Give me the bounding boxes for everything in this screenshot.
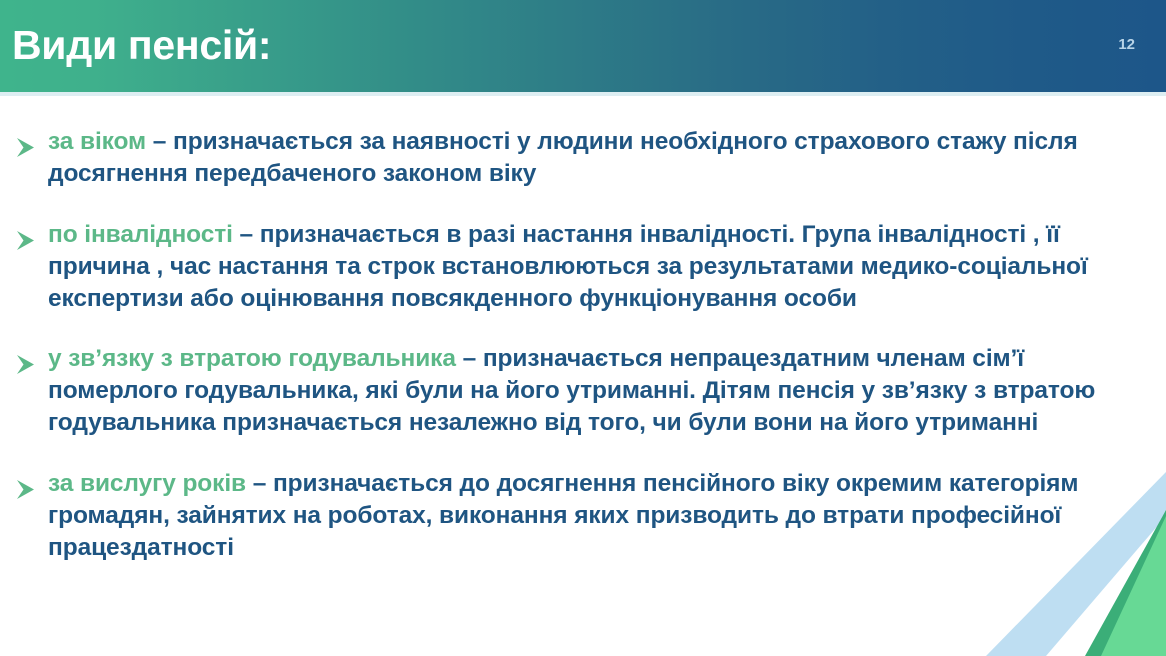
list-item-separator: – (146, 128, 173, 155)
list-item-term: за віком (48, 128, 146, 155)
list-item-body: призначається за наявності у людини необ… (48, 128, 1078, 187)
arrow-right-icon (14, 226, 40, 256)
list-item-term: за вислугу років (48, 470, 246, 497)
header-underline (0, 92, 1166, 96)
list-item-text: за вислугу років – призначається до дося… (48, 468, 1156, 564)
list-item-separator: – (246, 470, 273, 497)
list-item: у зв’язку з втратою годувальника – призн… (0, 343, 1166, 439)
bullet-list: за віком – призначається за наявності у … (0, 126, 1166, 564)
list-item-separator: – (233, 221, 260, 248)
list-item: по інвалідності – призначається в разі н… (0, 219, 1166, 315)
list-item-separator: – (456, 345, 483, 372)
list-item-text: по інвалідності – призначається в разі н… (48, 219, 1156, 315)
list-item-term: у зв’язку з втратою годувальника (48, 345, 456, 372)
slide-header: Види пенсій: 12 (0, 0, 1166, 92)
arrow-right-icon (14, 475, 40, 505)
list-item: за віком – призначається за наявності у … (0, 126, 1166, 190)
arrow-right-icon (14, 133, 40, 163)
list-item: за вислугу років – призначається до дося… (0, 468, 1166, 564)
arrow-right-icon (14, 350, 40, 380)
slide: Види пенсій: 12 за віком – призначається… (0, 0, 1166, 656)
list-item-term: по інвалідності (48, 221, 233, 248)
page-title: Види пенсій: (12, 20, 271, 70)
page-number: 12 (1118, 36, 1135, 54)
list-item-text: за віком – призначається за наявності у … (48, 126, 1156, 190)
list-item-text: у зв’язку з втратою годувальника – призн… (48, 343, 1156, 439)
